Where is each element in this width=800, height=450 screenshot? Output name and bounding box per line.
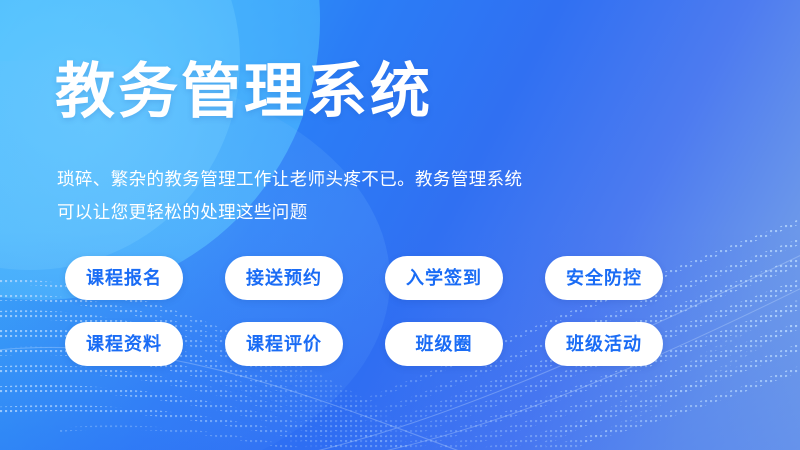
- subtitle-line-2: 可以让您更轻松的处理这些问题: [57, 196, 697, 229]
- promo-banner: 教务管理系统 琐碎、繁杂的教务管理工作让老师头疼不已。教务管理系统 可以让您更轻…: [0, 0, 800, 450]
- tag-chip-safety-control[interactable]: 安全防控: [545, 256, 663, 300]
- subtitle-line-1: 琐碎、繁杂的教务管理工作让老师头疼不已。教务管理系统: [57, 163, 697, 196]
- tag-chip-course-evaluation[interactable]: 课程评价: [225, 322, 343, 366]
- tag-chip-class-circle[interactable]: 班级圈: [385, 322, 503, 366]
- banner-subtitle: 琐碎、繁杂的教务管理工作让老师头疼不已。教务管理系统 可以让您更轻松的处理这些问…: [57, 163, 697, 229]
- tag-chip-enrollment-checkin[interactable]: 入学签到: [385, 256, 503, 300]
- feature-tag-grid: 课程报名 接送预约 入学签到 安全防控 课程资料 课程评价 班级圈 班级活动: [65, 256, 715, 366]
- tag-chip-pickup-booking[interactable]: 接送预约: [225, 256, 343, 300]
- tag-chip-course-materials[interactable]: 课程资料: [65, 322, 183, 366]
- banner-content: 教务管理系统 琐碎、繁杂的教务管理工作让老师头疼不已。教务管理系统 可以让您更轻…: [55, 0, 755, 450]
- page-title: 教务管理系统: [55, 56, 433, 128]
- tag-chip-class-activity[interactable]: 班级活动: [545, 322, 663, 366]
- tag-chip-course-signup[interactable]: 课程报名: [65, 256, 183, 300]
